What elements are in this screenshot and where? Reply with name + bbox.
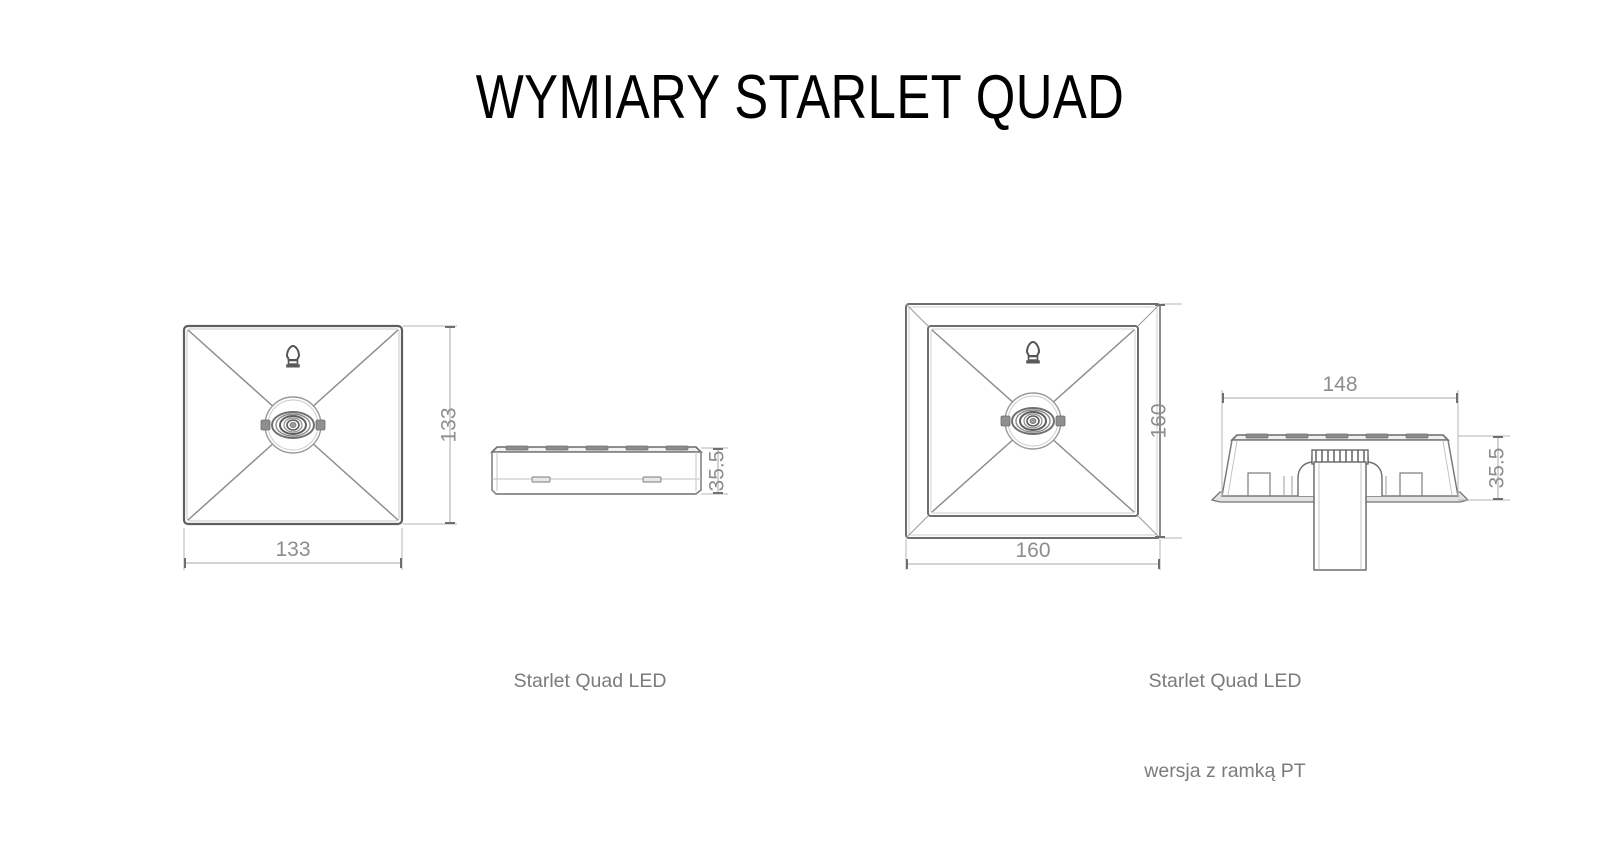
caption-standard-line-1: Starlet Quad LED [410,666,770,696]
dimension-standard-width: 133 [184,528,402,570]
dimension-framed-thickness: 35.5 [1458,436,1510,500]
dimension-label-width: 133 [275,538,310,561]
drawing-standard: 133 133 [140,270,760,690]
bulb-icon [287,346,300,367]
caption-framed: Starlet Quad LED wersja z ramką PT [1045,606,1405,846]
dimension-label-width: 160 [1015,539,1050,562]
caption-framed-line-1: Starlet Quad LED [1045,666,1405,696]
dimension-label-body-width: 148 [1322,373,1357,396]
caption-framed-line-2: wersja z ramką PT [1045,756,1405,786]
dimension-framed-width: 160 [906,539,1160,570]
dimension-label-thickness: 35.5 [1486,448,1509,489]
dimension-standard-height: 133 [403,326,461,524]
drawing-framed: 160 160 [860,270,1520,700]
dimension-label-height: 133 [438,407,461,442]
section-mounting-stem [1314,462,1366,570]
dimension-standard-thickness: 35.5 [701,448,729,494]
standard-top-view: 133 133 [184,326,461,570]
framed-section-view: 148 35.5 [1212,373,1510,570]
dimension-label-thickness: 35.5 [706,451,729,492]
framed-top-view: 160 160 [906,304,1182,570]
dimension-label-height: 160 [1148,403,1171,438]
side-view-body [492,452,701,494]
standard-side-view: 35.5 [492,446,729,494]
caption-standard: Starlet Quad LED [410,606,770,756]
page-title: WYMIARY STARLET QUAD [144,62,1456,134]
bulb-icon [1027,342,1040,363]
